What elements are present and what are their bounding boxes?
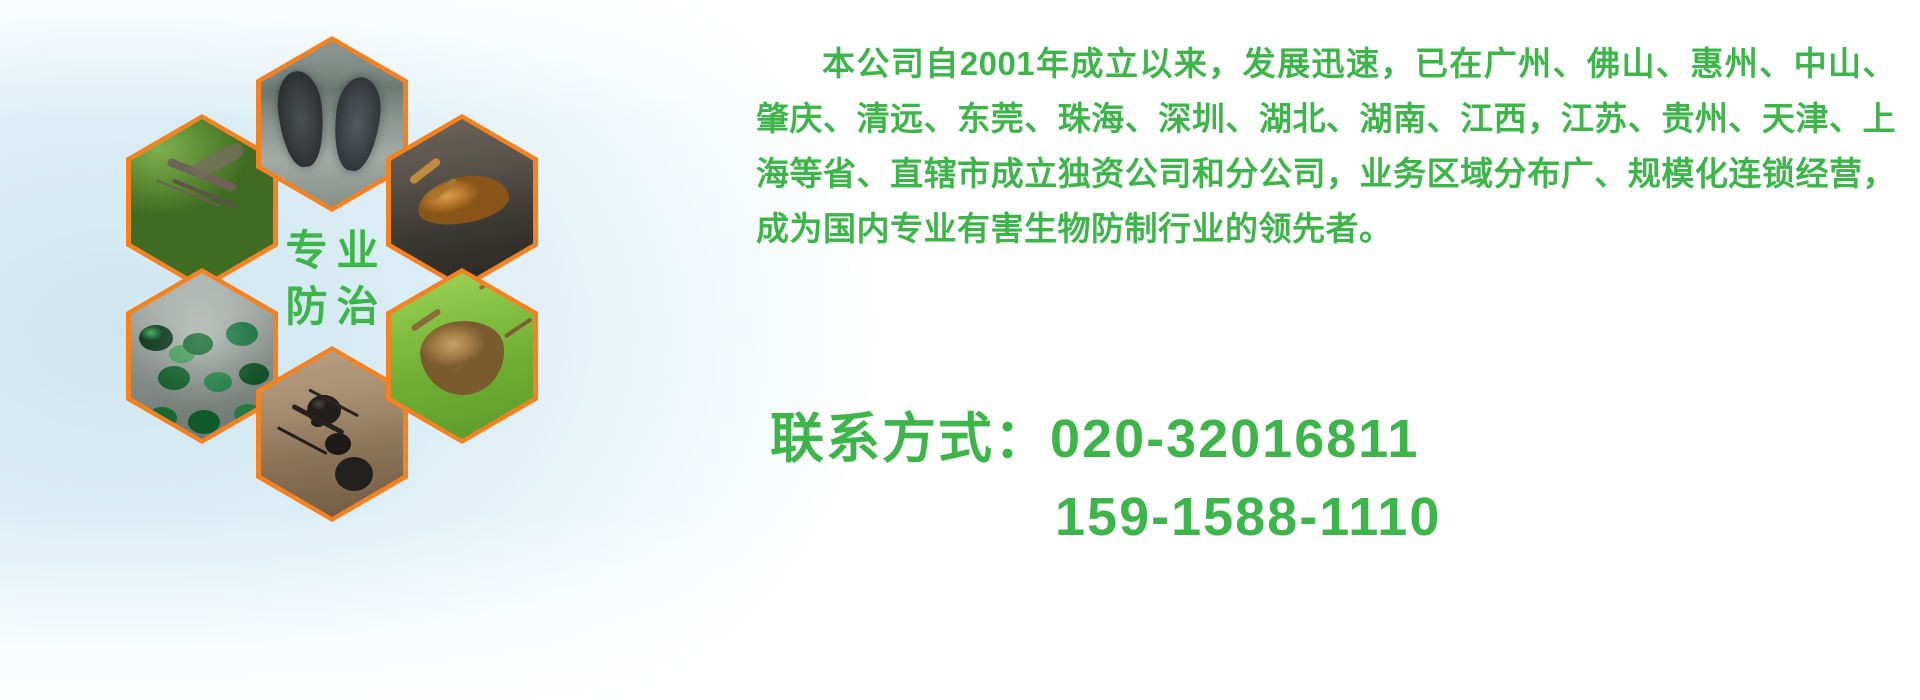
hex-photo-flies-inner <box>131 273 273 439</box>
hex-photo-rats[interactable] <box>256 36 408 212</box>
contact-phone-primary[interactable]: 联系方式：020-32016811 <box>770 400 1870 478</box>
promo-banner: 专业 防治 本公司自2001年成立以来，发展迅速，已在广州、佛山、惠州、中山、肇… <box>0 0 1920 700</box>
rats-photo <box>261 41 403 207</box>
company-intro: 本公司自2001年成立以来，发展迅速，已在广州、佛山、惠州、中山、肇庆、清远、东… <box>756 36 1896 256</box>
shield-bug-photo <box>391 273 533 439</box>
hex-photo-cockroach[interactable] <box>386 114 538 290</box>
cockroach-photo <box>391 119 533 285</box>
flies-photo <box>131 273 273 439</box>
ant-photo <box>261 351 403 517</box>
badge-line-1: 专业 <box>276 230 387 272</box>
contact-phone-secondary[interactable]: 159-1588-1110 <box>770 478 1870 556</box>
badge-hexagon: 专业 防治 <box>256 191 408 367</box>
hex-photo-ant[interactable] <box>256 346 408 522</box>
hex-photo-shield-bug[interactable] <box>386 268 538 444</box>
hex-photo-shield-bug-inner <box>391 273 533 439</box>
hex-photo-rats-inner <box>261 41 403 207</box>
badge-line-2: 防治 <box>276 286 387 328</box>
hex-photo-cockroach-inner <box>391 119 533 285</box>
mosquito-photo <box>131 119 273 285</box>
company-intro-paragraph: 本公司自2001年成立以来，发展迅速，已在广州、佛山、惠州、中山、肇庆、清远、东… <box>756 36 1896 256</box>
contact-block: 联系方式：020-32016811 159-1588-1110 <box>770 400 1870 556</box>
honeycomb-photo-cluster: 专业 防治 <box>96 6 596 566</box>
hex-photo-mosquito-inner <box>131 119 273 285</box>
hex-photo-ant-inner <box>261 351 403 517</box>
